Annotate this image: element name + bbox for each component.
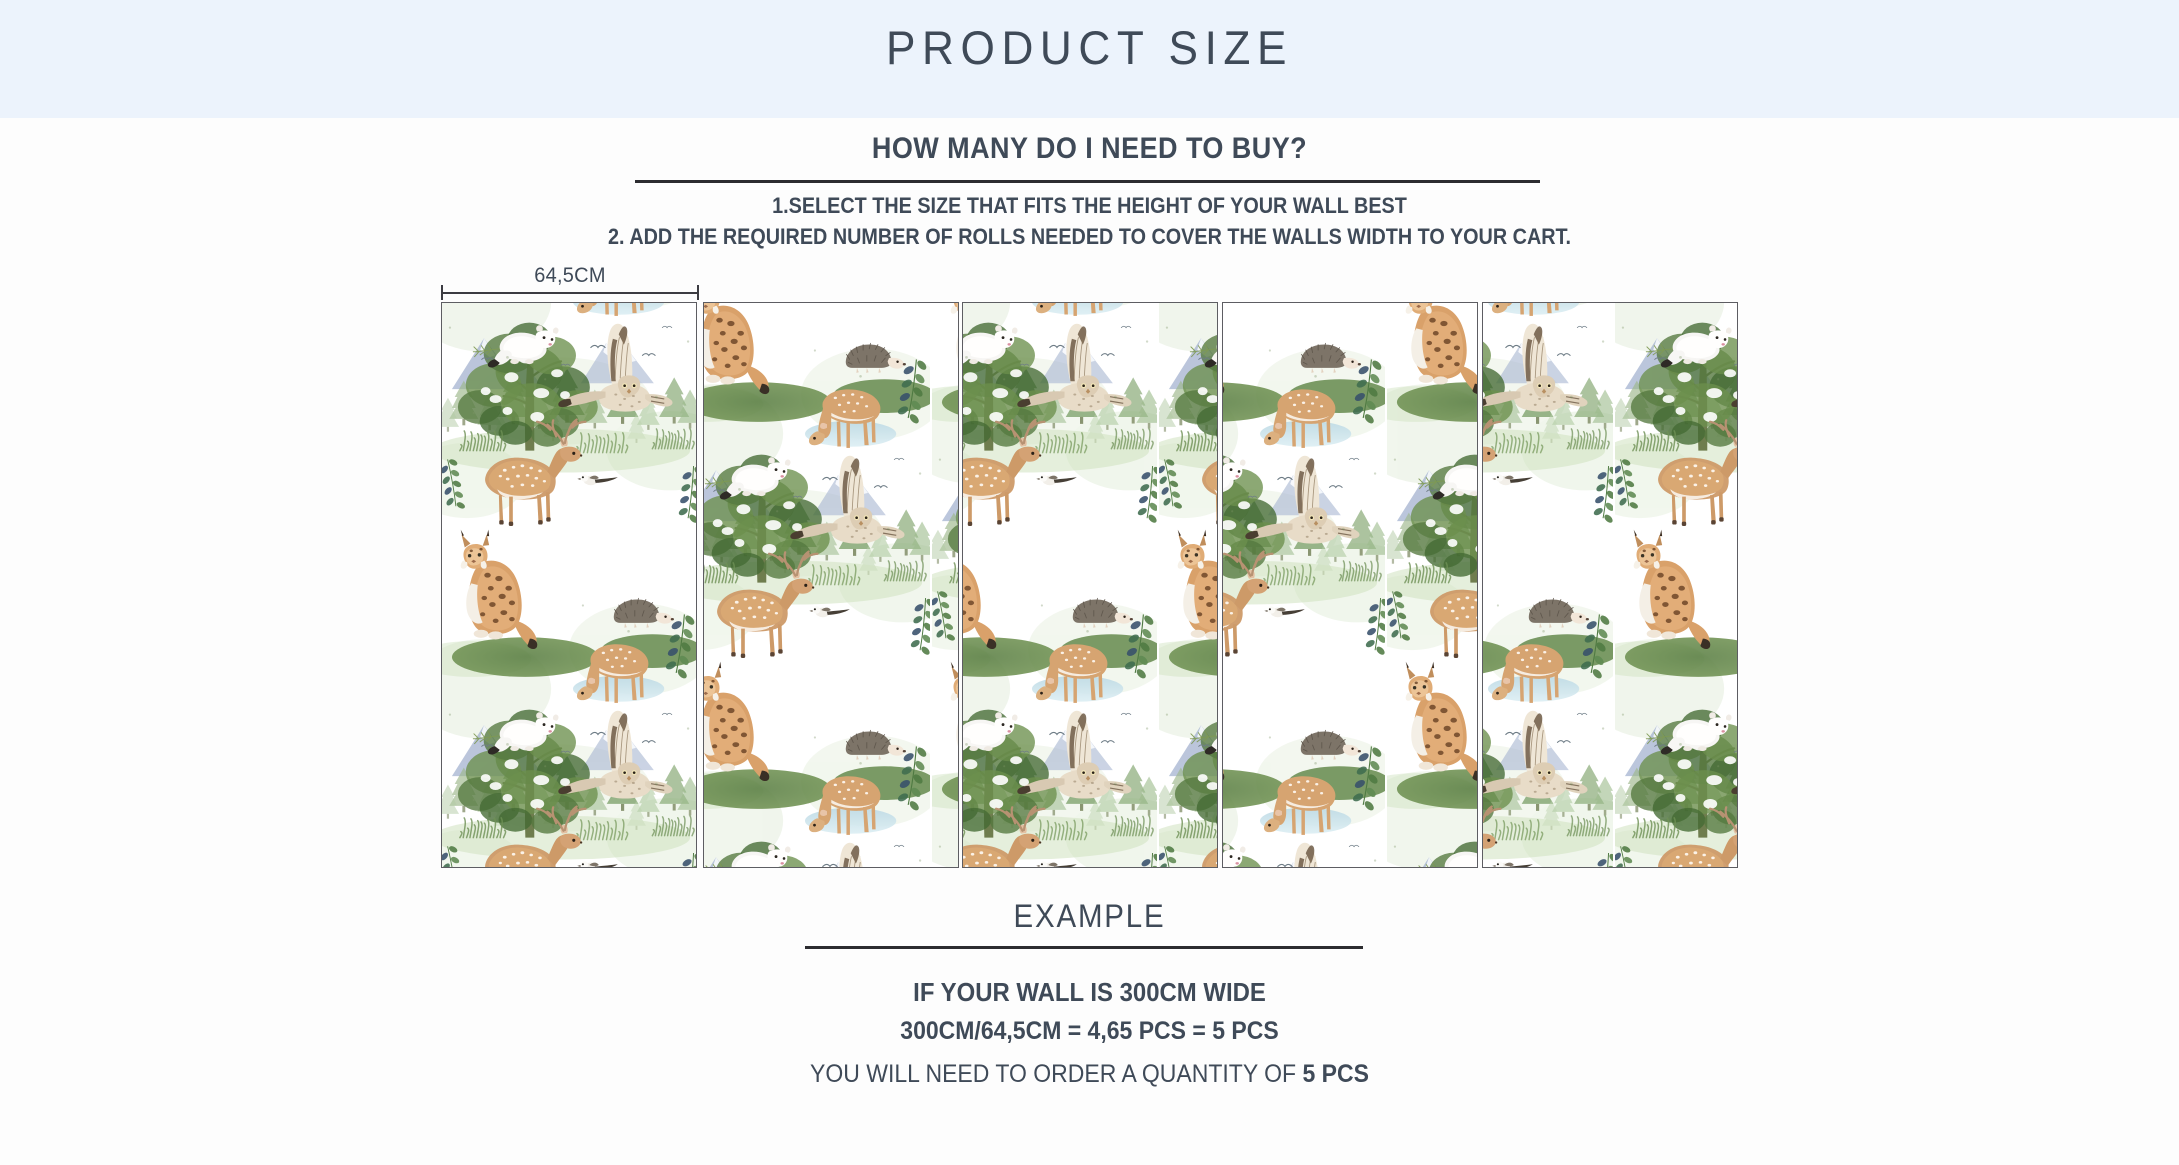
order-quantity-value: 5 PCS	[1302, 1060, 1368, 1088]
example-formula: 300CM/64,5CM = 4,65 PCS = 5 PCS	[87, 1012, 2092, 1050]
example-calculation: IF YOUR WALL IS 300CM WIDE 300CM/64,5CM …	[0, 972, 2179, 1050]
example-divider	[805, 946, 1363, 949]
wallpaper-panel[interactable]	[1482, 302, 1738, 868]
wallpaper-panel[interactable]	[441, 302, 697, 868]
example-order-quantity: YOU WILL NEED TO ORDER A QUANTITY OF 5 P…	[87, 1060, 2092, 1089]
wallpaper-panel[interactable]	[703, 302, 959, 868]
example-wall-width: IF YOUR WALL IS 300CM WIDE	[87, 972, 2092, 1012]
order-quantity-prefix: YOU WILL NEED TO ORDER A QUANTITY OF	[810, 1060, 1302, 1088]
wallpaper-panel[interactable]	[1222, 302, 1478, 868]
wallpaper-panel[interactable]	[962, 302, 1218, 868]
example-heading: EXAMPLE	[87, 898, 2092, 935]
